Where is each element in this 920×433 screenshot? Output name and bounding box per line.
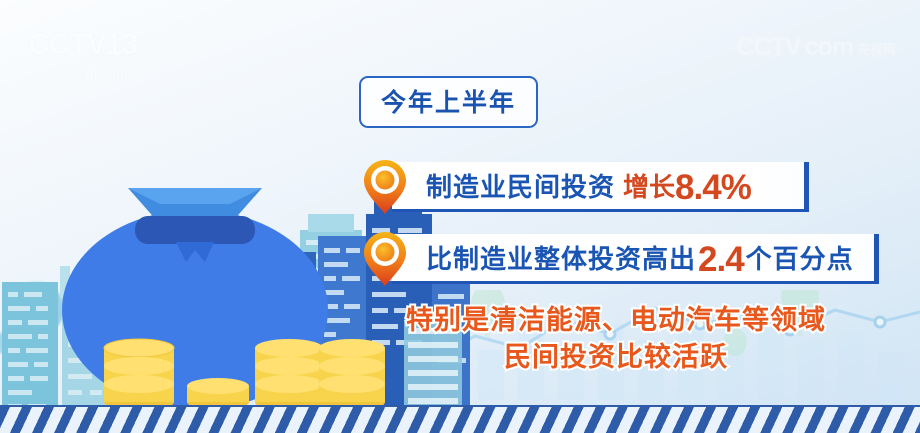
- stat-metric-suffix: 个百分点: [746, 239, 854, 276]
- stat-panel: 制造业民间投资 增长 8.4 %: [392, 162, 809, 212]
- statement-line-1: 特别是清洁能源、电动汽车等领域: [386, 302, 846, 339]
- stat-metric-value: 2.4: [698, 242, 744, 277]
- stat-label: 比制造业整体投资高出: [426, 239, 696, 276]
- stat-label: 制造业民间投资: [426, 167, 615, 204]
- stat-metric-unit: %: [721, 170, 751, 205]
- watermark-sub-text: com: [805, 34, 853, 60]
- location-pin-icon: [362, 158, 408, 216]
- cctv-com-watermark: CCTV com 央视网: [737, 34, 896, 60]
- coin-stack: [104, 339, 174, 411]
- cctv13-channel-logo: CCTV13 新闻: [28, 28, 183, 86]
- stat-metric-prefix: 增长: [623, 167, 675, 204]
- cctv-logo-subtitle: 新闻: [42, 63, 183, 84]
- statement-line-2: 民间投资比较活跃: [386, 339, 846, 376]
- location-pin-icon: [362, 230, 408, 288]
- cctv-logo-text: CCTV13: [28, 28, 183, 62]
- broadcast-graphic: CCTV13 新闻 CCTV com 央视网 今年上半年 制造业民间投资 增长 …: [0, 0, 920, 433]
- coin-stack: [319, 339, 385, 411]
- stat-row: 制造业民间投资 增长 8.4 %: [362, 162, 809, 212]
- stat-panel: 比制造业整体投资高出 2.4 个百分点: [392, 234, 879, 284]
- watermark-main-text: CCTV: [737, 34, 801, 60]
- stat-metric-value: 8.4: [675, 170, 721, 205]
- watermark-chinese-text: 央视网: [857, 40, 896, 60]
- headline-text: 今年上半年: [381, 89, 516, 117]
- headline-pill: 今年上半年: [359, 76, 538, 128]
- coin-stack: [255, 339, 323, 411]
- statement-block: 特别是清洁能源、电动汽车等领域 民间投资比较活跃: [386, 302, 846, 376]
- stat-row: 比制造业整体投资高出 2.4 个百分点: [362, 234, 852, 284]
- bottom-stripe-band: [0, 405, 920, 433]
